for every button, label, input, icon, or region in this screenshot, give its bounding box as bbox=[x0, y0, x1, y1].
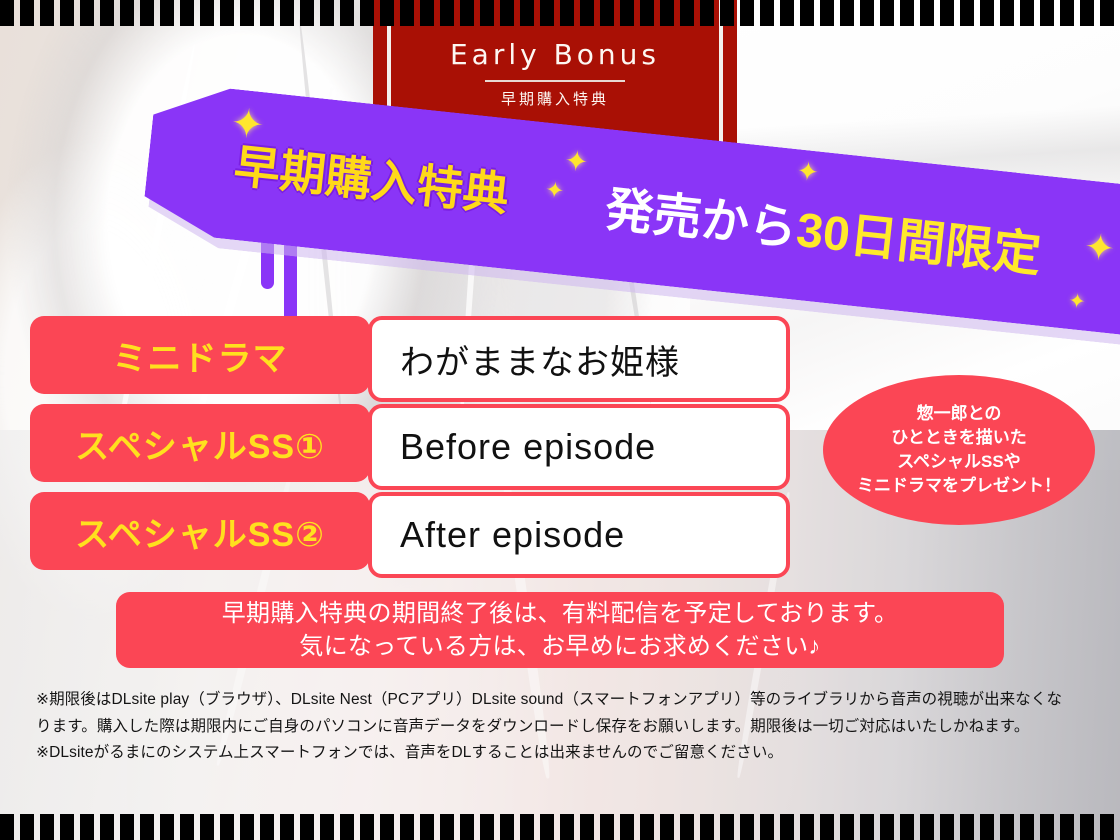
header-divider bbox=[485, 80, 625, 82]
notice-line-2: 気になっている方は、お早めにお求めください♪ bbox=[299, 630, 820, 663]
fine-print: ※期限後はDLsite play（ブラウザ）、DLsite Nest（PCアプリ… bbox=[36, 688, 1091, 768]
ribbon-limit-prefix: 発売から bbox=[603, 183, 800, 256]
ribbon-body: ✦ ✦ ✦ ✦ ✦ ✦ ✦ 早期購入特典 発売から30日間限定 bbox=[141, 81, 1120, 337]
badge-line-4: ミニドラマをプレゼント！ bbox=[857, 474, 1061, 498]
sparkle-icon: ✦ bbox=[1068, 291, 1087, 313]
sparkle-icon: ✦ bbox=[563, 147, 589, 177]
bottom-comb-border bbox=[0, 814, 1120, 840]
item-tag-label: スペシャルSS① bbox=[75, 419, 325, 468]
fine-print-line-1: ※期限後はDLsite play（ブラウザ）、DLsite Nest（PCアプリ… bbox=[36, 688, 1091, 712]
list-item: ミニドラマ わがままなお姫様 bbox=[30, 316, 790, 394]
promo-banner: Early Bonus 早期購入特典 ✦ ✦ ✦ ✦ ✦ ✦ ✦ 早期購入特典 … bbox=[0, 0, 1120, 840]
item-tag-label: スペシャルSS② bbox=[75, 507, 325, 556]
ribbon-banner: ✦ ✦ ✦ ✦ ✦ ✦ ✦ 早期購入特典 発売から30日間限定 bbox=[0, 112, 1120, 327]
badge-line-2: ひとときを描いた bbox=[891, 426, 1027, 450]
item-value: Before episode bbox=[368, 404, 790, 490]
notice-line-1: 早期購入特典の期間終了後は、有料配信を予定しております。 bbox=[222, 597, 899, 630]
header-title-en: Early Bonus bbox=[373, 38, 737, 71]
item-value: わがままなお姫様 bbox=[368, 316, 790, 402]
sparkle-icon: ✦ bbox=[544, 179, 565, 203]
item-value-label: Before episode bbox=[372, 426, 656, 468]
item-value-label: After episode bbox=[372, 514, 625, 556]
fine-print-line-2: ります。購入した際は期限内にご自身のパソコンに音声データをダウンロードし保存をお… bbox=[36, 715, 1091, 739]
header-title-jp: 早期購入特典 bbox=[373, 88, 737, 109]
list-item: スペシャルSS② After episode bbox=[30, 492, 790, 570]
sparkle-icon: ✦ bbox=[1083, 228, 1117, 267]
item-value-label: わがままなお姫様 bbox=[372, 335, 680, 384]
list-item: スペシャルSS① Before episode bbox=[30, 404, 790, 482]
item-tag: スペシャルSS② bbox=[30, 492, 370, 570]
ribbon-limit-number: 30 bbox=[794, 204, 853, 262]
top-comb-border bbox=[0, 0, 1120, 26]
status-badge: 惣一郎との ひとときを描いた スペシャルSSや ミニドラマをプレゼント！ bbox=[823, 375, 1095, 525]
badge-line-1: 惣一郎との bbox=[917, 402, 1002, 426]
item-tag-label: ミニドラマ bbox=[113, 331, 288, 380]
ribbon-limit-suffix: 日間限定 bbox=[847, 209, 1044, 282]
ribbon-label: 早期購入特典 bbox=[231, 130, 512, 225]
item-tag: ミニドラマ bbox=[30, 316, 370, 394]
sparkle-icon: ✦ bbox=[796, 157, 820, 185]
item-value: After episode bbox=[368, 492, 790, 578]
item-tag: スペシャルSS① bbox=[30, 404, 370, 482]
ribbon-limit: 発売から30日間限定 bbox=[603, 169, 1045, 285]
notice-box: 早期購入特典の期間終了後は、有料配信を予定しております。 気になっている方は、お… bbox=[116, 592, 1004, 668]
bonus-item-list: ミニドラマ わがままなお姫様 スペシャルSS① Before episode ス… bbox=[30, 316, 790, 580]
fine-print-line-3: ※DLsiteがるまにのシステム上スマートフォンでは、音声をDLすることは出来ま… bbox=[36, 741, 1091, 765]
badge-line-3: スペシャルSSや bbox=[897, 450, 1021, 474]
